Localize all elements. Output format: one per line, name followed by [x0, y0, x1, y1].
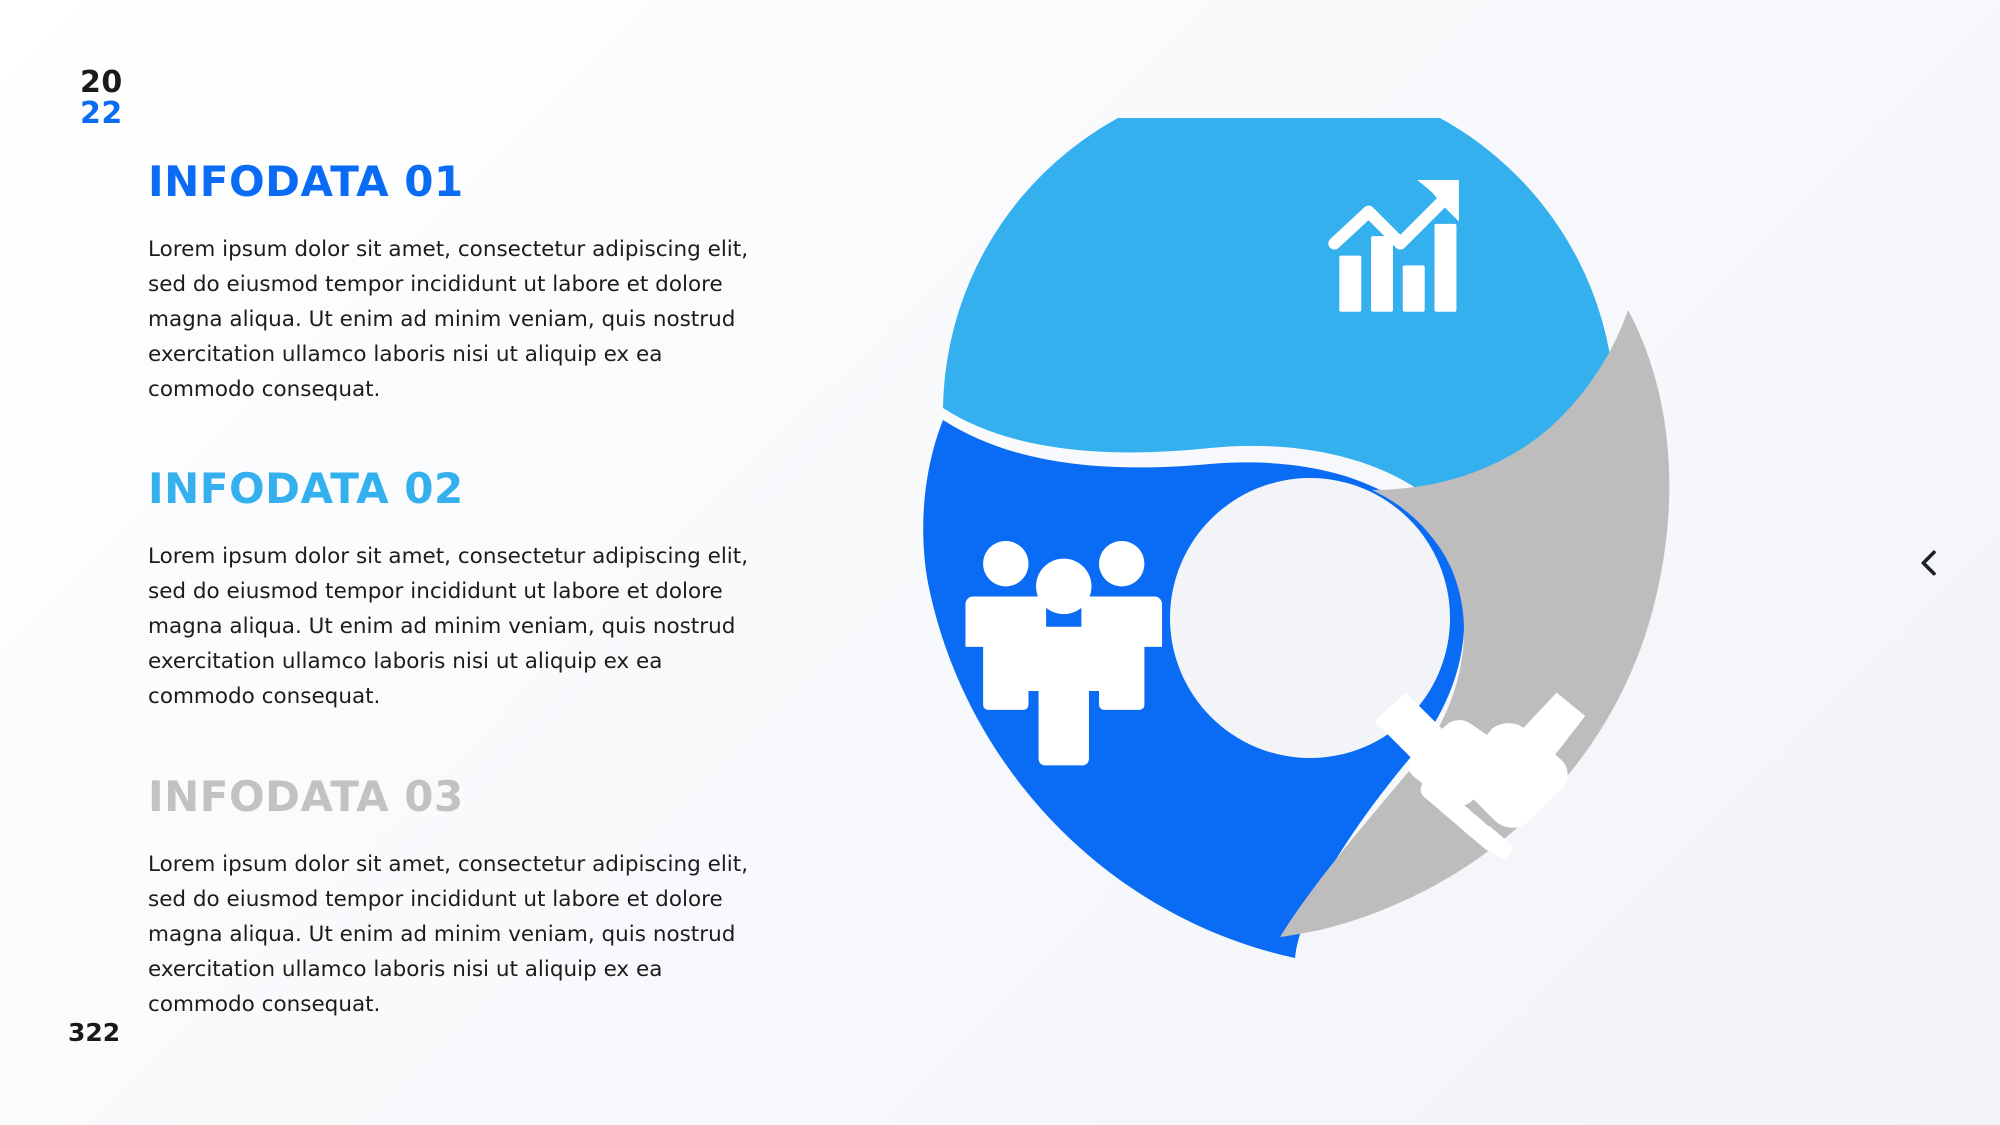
page-number: 322	[68, 1018, 120, 1047]
info-title-03: INFODATA 03	[148, 775, 788, 819]
info-title-02: INFODATA 02	[148, 467, 788, 511]
slide-canvas: 20 22 INFODATA 01 Lorem ipsum dolor sit …	[0, 0, 2000, 1125]
info-block-01: INFODATA 01 Lorem ipsum dolor sit amet, …	[148, 160, 788, 407]
swirl-diagram	[880, 118, 1680, 958]
info-body-02: Lorem ipsum dolor sit amet, consectetur …	[148, 539, 758, 714]
chevron-left-icon	[1912, 546, 1946, 580]
info-sections: INFODATA 01 Lorem ipsum dolor sit amet, …	[148, 160, 788, 1022]
year-bottom: 22	[80, 99, 123, 130]
info-block-03: INFODATA 03 Lorem ipsum dolor sit amet, …	[148, 775, 788, 1022]
info-title-01: INFODATA 01	[148, 160, 788, 204]
info-block-02: INFODATA 02 Lorem ipsum dolor sit amet, …	[148, 467, 788, 714]
info-body-01: Lorem ipsum dolor sit amet, consectetur …	[148, 232, 758, 407]
prev-slide-button[interactable]	[1906, 540, 1952, 586]
info-body-03: Lorem ipsum dolor sit amet, consectetur …	[148, 847, 758, 1022]
year-stamp: 20 22	[80, 68, 123, 129]
year-top: 20	[80, 68, 123, 99]
